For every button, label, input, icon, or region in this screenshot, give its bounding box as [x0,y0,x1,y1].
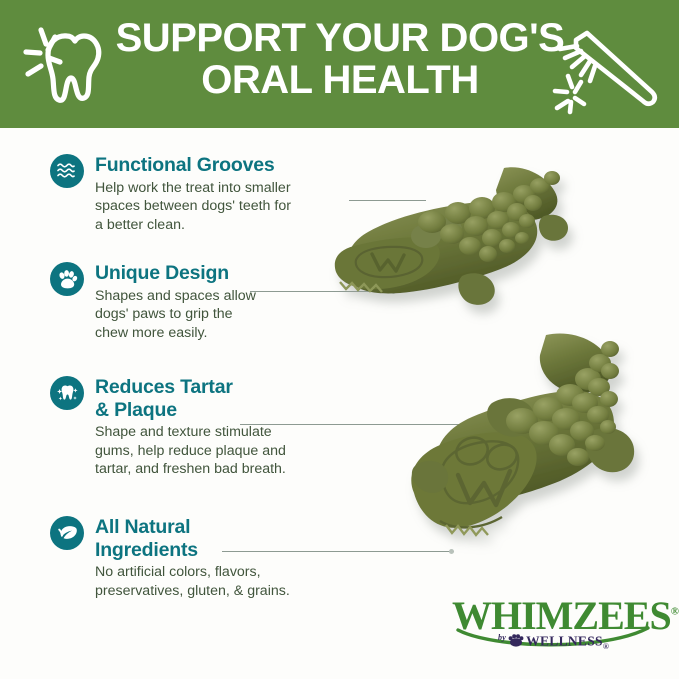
feature-reduces-tartar-plaque: Reduces Tartar & Plaque Shape and textur… [50,376,350,479]
feature-description: Shape and texture stimulate gums, help r… [95,423,350,479]
feature-functional-grooves: Functional Grooves Help work the treat i… [50,154,350,234]
page-title: SUPPORT YOUR DOG'S ORAL HEALTH [105,18,575,101]
leaf-icon [50,516,84,550]
logo-subbrand: by WELLNESS® [498,633,609,651]
feature-list: Functional Grooves Help work the treat i… [0,128,370,679]
logo-sub-registered-mark: ® [603,642,609,651]
feature-title: Functional Grooves [95,154,350,177]
header-banner: SUPPORT YOUR DOG'S ORAL HEALTH [0,0,679,128]
wavy-grooves-icon [50,154,84,188]
logo-registered-mark: ® [671,606,678,618]
feature-title: Unique Design [95,262,350,285]
alligator-dental-chew-bottom [396,325,668,570]
feature-description: No artificial colors, flavors, preservat… [95,563,350,600]
feature-unique-design: Unique Design Shapes and spaces allow do… [50,262,350,342]
title-line-2: ORAL HEALTH [105,60,575,102]
feature-all-natural-ingredients: All Natural Ingredients No artificial co… [50,516,350,600]
wellness-paw-icon [508,634,524,651]
logo-subbrand-text: WELLNESS [526,634,603,649]
feature-description: Help work the treat into smaller spaces … [95,179,350,235]
tooth-sparkle-icon [18,22,110,117]
paw-print-icon [50,262,84,296]
title-line-1: SUPPORT YOUR DOG'S [116,16,565,60]
feature-title: Reduces Tartar & Plaque [95,376,350,421]
infographic-canvas: SUPPORT YOUR DOG'S ORAL HEALTH [0,0,679,679]
sparkling-tooth-icon [50,376,84,410]
logo-by-text: by [498,633,506,642]
brand-logo: WHIMZEES® by WELLNESS® [452,596,662,658]
feature-description: Shapes and spaces allow dogs' paws to gr… [95,287,350,343]
feature-title: All Natural Ingredients [95,516,350,561]
toothbrush-sparkle-icon [546,22,666,122]
